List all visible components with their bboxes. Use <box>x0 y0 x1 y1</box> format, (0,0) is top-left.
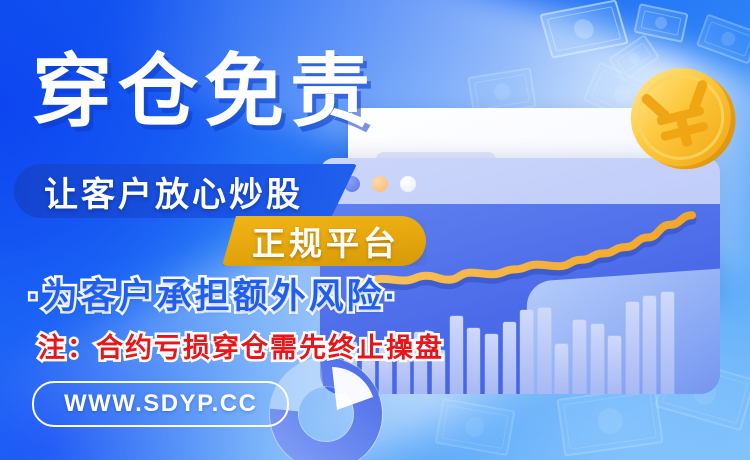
bar-chart-bar <box>608 336 621 394</box>
platform-badge: 正规平台 <box>222 216 426 266</box>
platform-badge-label: 正规平台 <box>252 217 400 265</box>
website-url-label: WWW.SDYP.CC <box>64 390 257 418</box>
risk-statement: ·为客户承担额外风险· <box>28 268 399 319</box>
headline: 穿仓免责 <box>32 52 376 132</box>
window-dot-orange-icon <box>372 176 388 192</box>
bar-chart-bar <box>573 320 586 394</box>
website-url-button[interactable]: WWW.SDYP.CC <box>32 381 289 427</box>
bar-chart-bar <box>467 328 480 394</box>
bar-chart-bar <box>503 322 516 394</box>
gold-coin-icon <box>626 62 738 174</box>
disclaimer-note: 注：合约亏损穿仓需先终止操盘 <box>38 326 444 365</box>
bar-chart-bar <box>591 324 604 394</box>
subtitle-text: 让客户放心炒股 <box>44 167 303 216</box>
bar-chart-bar <box>555 344 568 394</box>
bar-chart-bar <box>485 334 498 394</box>
subtitle-banner: 让客户放心炒股 <box>14 164 357 218</box>
window-dot-white-icon <box>400 176 416 192</box>
bar-chart-bar <box>450 316 463 394</box>
promo-banner: 穿仓免责 让客户放心炒股 正规平台 ·为客户承担额外风险· 注：合约亏损穿仓需先… <box>0 0 750 460</box>
